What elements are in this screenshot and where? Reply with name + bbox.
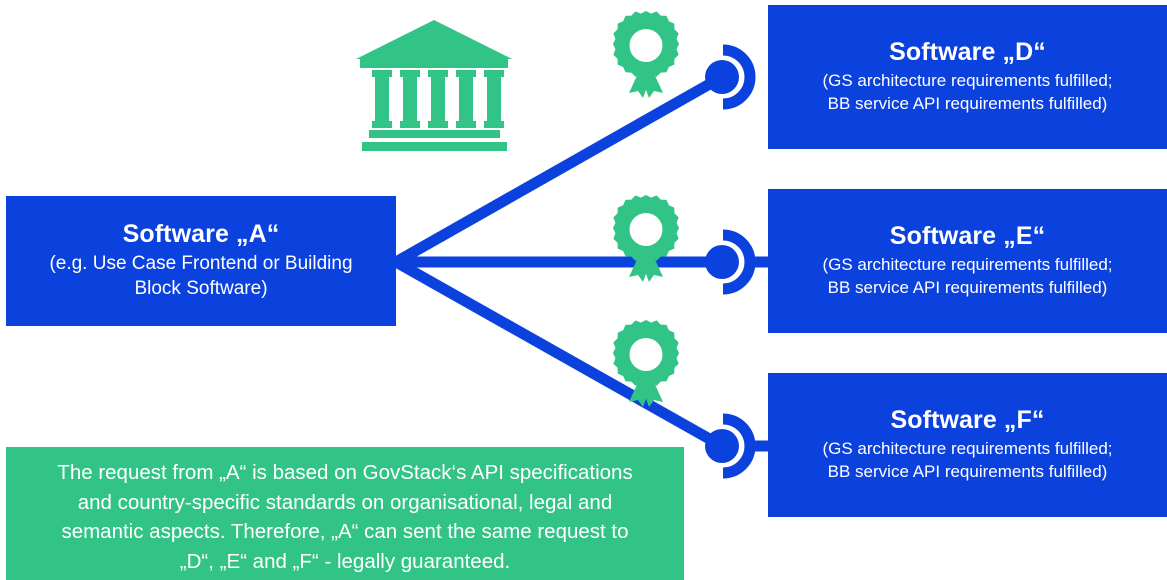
software-a-box[interactable]: Software „A“ (e.g. Use Case Frontend or …: [6, 196, 396, 326]
software-f-subtitle: (GS architecture requirements fulfilled;…: [814, 438, 1120, 484]
software-f-title: Software „F“: [891, 406, 1045, 436]
software-f-subtitle-line-2: BB service API requirements fulfilled): [822, 461, 1112, 484]
software-d-title: Software „D“: [889, 38, 1046, 68]
explanation-caption-box: The request from „A“ is based on GovStac…: [6, 447, 684, 580]
software-e-title: Software „E“: [890, 222, 1045, 252]
software-a-subtitle-line-1: (e.g. Use Case Frontend or Building: [49, 251, 352, 277]
software-d-box[interactable]: Software „D“ (GS architecture requiremen…: [768, 5, 1167, 149]
caption-line-3: semantic aspects. Therefore, „A“ can sen…: [57, 517, 632, 547]
software-d-subtitle-line-2: BB service API requirements fulfilled): [822, 93, 1112, 116]
certification-award-icon-f: [613, 320, 679, 407]
software-e-box[interactable]: Software „E“ (GS architecture requiremen…: [768, 189, 1167, 333]
caption-line-1: The request from „A“ is based on GovStac…: [57, 458, 632, 488]
software-a-subtitle: (e.g. Use Case Frontend or Building Bloc…: [39, 251, 362, 302]
software-e-subtitle: (GS architecture requirements fulfilled;…: [814, 254, 1120, 300]
caption-line-2: and country-specific standards on organi…: [57, 488, 632, 518]
software-a-subtitle-line-2: Block Software): [49, 276, 352, 302]
certification-award-icon-e: [613, 195, 679, 282]
government-building-icon: [356, 20, 512, 151]
software-d-subtitle: (GS architecture requirements fulfilled;…: [814, 70, 1120, 116]
certification-award-icon-d: [613, 11, 679, 98]
explanation-caption-text: The request from „A“ is based on GovStac…: [41, 458, 648, 577]
software-f-box[interactable]: Software „F“ (GS architecture requiremen…: [768, 373, 1167, 517]
caption-line-4: „D“, „E“ and „F“ - legally guaranteed.: [57, 547, 632, 577]
software-d-subtitle-line-1: (GS architecture requirements fulfilled;: [822, 70, 1112, 93]
software-a-title: Software „A“: [123, 220, 280, 250]
software-e-subtitle-line-1: (GS architecture requirements fulfilled;: [822, 254, 1112, 277]
software-f-subtitle-line-1: (GS architecture requirements fulfilled;: [822, 438, 1112, 461]
diagram-canvas: Software „A“ (e.g. Use Case Frontend or …: [0, 0, 1167, 580]
software-e-subtitle-line-2: BB service API requirements fulfilled): [822, 277, 1112, 300]
